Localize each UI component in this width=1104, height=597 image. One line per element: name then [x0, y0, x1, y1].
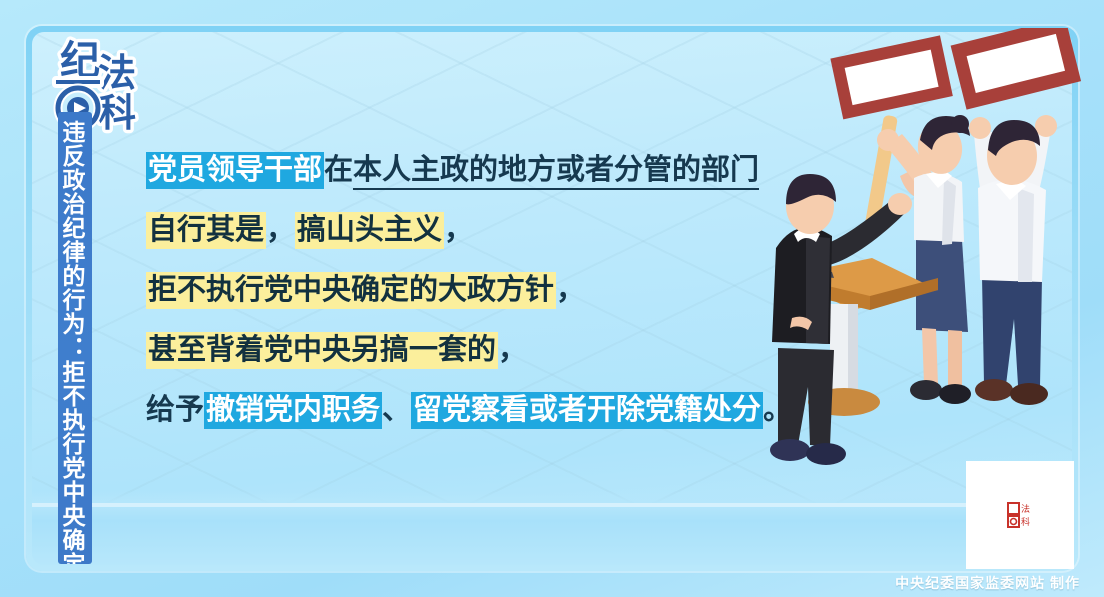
text-line-4: 甚至背着党中央另搞一套的，	[146, 328, 786, 372]
text-segment: 甚至背着党中央另搞一套的	[146, 332, 498, 369]
logo-char-ke: 科	[98, 93, 136, 134]
svg-text:法: 法	[1021, 503, 1030, 514]
text-segment: ，	[556, 274, 585, 306]
text-line-3: 拒不执行党中央确定的大政方针，	[146, 268, 786, 312]
background-ground-line	[32, 503, 1072, 507]
main-text-block: 党员领导干部在本人主政的地方或者分管的部门 自行其是，搞山头主义， 拒不执行党中…	[146, 148, 786, 448]
vertical-category-banner: 违反政治纪律的行为：拒不执行党中央确定的大政方针	[58, 112, 92, 564]
text-segment: 拒不执行党中央确定的大政方针	[146, 272, 556, 309]
text-segment: 党员领导干部	[146, 152, 324, 189]
text-segment: 、	[382, 394, 411, 426]
text-segment: ，	[444, 214, 473, 246]
figure-man-raising-sign	[969, 115, 1057, 405]
illustration-isometric-meeting	[768, 28, 1098, 478]
qr-code[interactable]: 法 科	[966, 461, 1074, 569]
figure-woman-raising-sign	[877, 115, 971, 404]
text-segment: 撤销党内职务	[204, 392, 382, 429]
text-segment: 在	[324, 154, 353, 186]
footer-credit: 中央纪委国家监委网站 制作	[895, 573, 1080, 593]
text-segment: 自行其是	[146, 212, 266, 249]
logo-char-fa: 法	[98, 53, 136, 95]
text-line-1: 党员领导干部在本人主政的地方或者分管的部门	[146, 148, 786, 192]
poster-canvas: 纪 法 科 纪 法 科 违反政治纪律的行为：拒不执行党中央确定的大政方针 党员领…	[0, 0, 1104, 597]
sign-right	[951, 28, 1081, 110]
text-segment: 搞山头主义	[295, 212, 444, 249]
text-segment: ，	[266, 214, 295, 246]
text-segment: 给予	[146, 394, 204, 426]
text-line-2: 自行其是，搞山头主义，	[146, 208, 786, 252]
text-segment: 本人主政的地方或者分管的部门	[353, 154, 759, 190]
text-line-5: 给予撤销党内职务、留党察看或者开除党籍处分。	[146, 388, 786, 432]
text-segment: 留党察看或者开除党籍处分	[411, 392, 763, 429]
svg-text:科: 科	[1021, 516, 1030, 527]
qr-code-center-logo: 法 科	[1006, 501, 1034, 529]
text-segment: ，	[498, 334, 527, 366]
